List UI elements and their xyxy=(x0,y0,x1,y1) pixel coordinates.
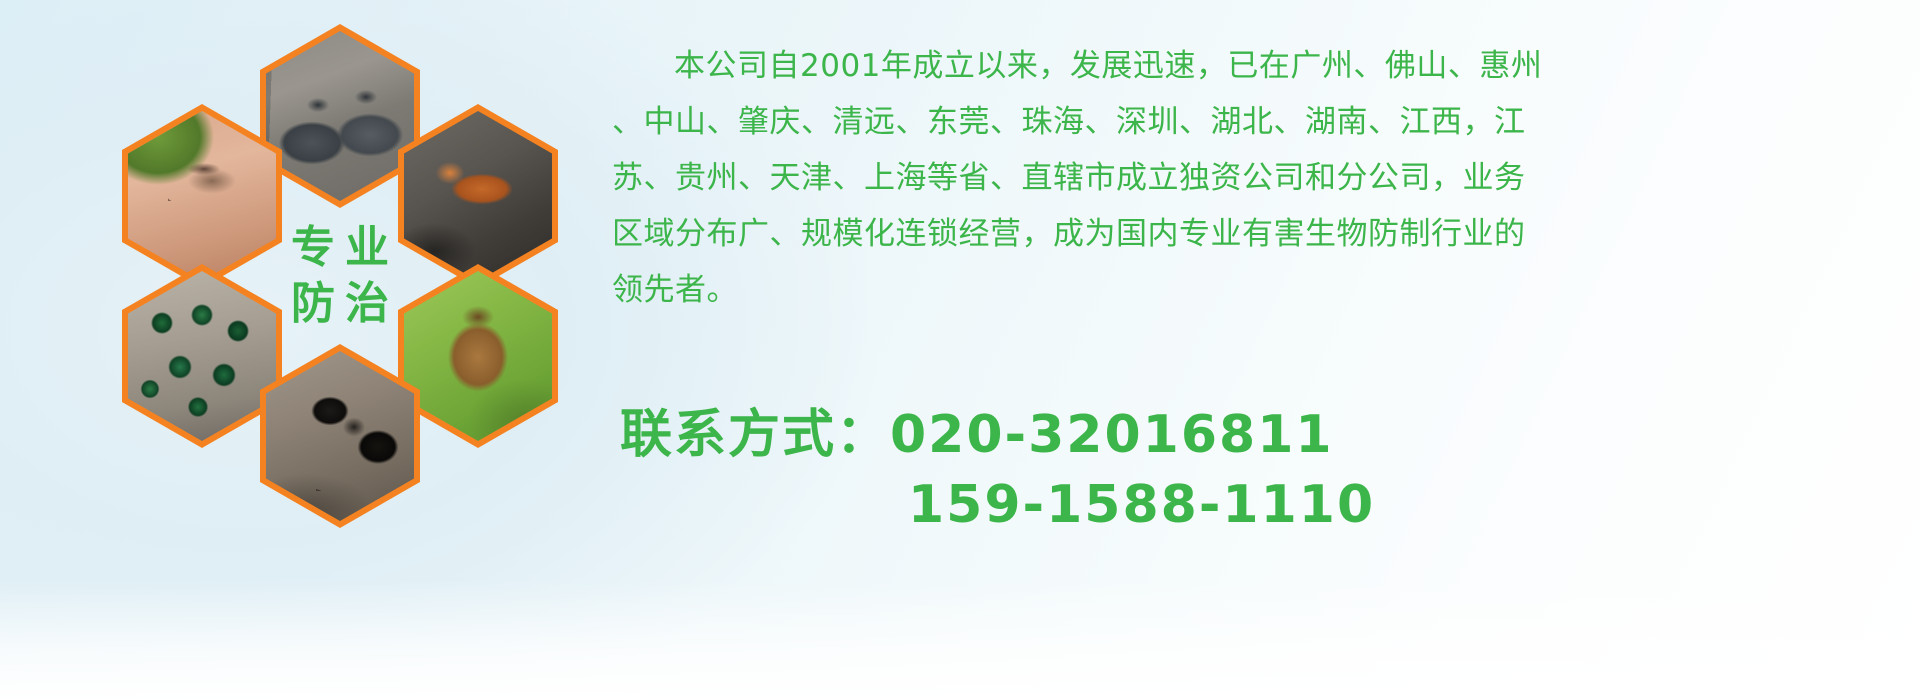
slogan-line-1: 专业 xyxy=(281,220,399,276)
slogan-line-2: 防治 xyxy=(281,276,399,332)
description-line-1: 本公司自2001年成立以来，发展迅速，已在广州、佛山、惠州 xyxy=(612,38,1912,94)
contact-secondary-phone[interactable]: 159-1588-1110 xyxy=(620,470,1920,540)
cockroach-image xyxy=(404,111,552,281)
description-line-4: 区域分布广、规模化连锁经营，成为国内专业有害生物防制行业的 xyxy=(612,206,1912,262)
hexagon-center-slogan: 专业 防治 xyxy=(260,184,420,368)
hexagon-photo-cluster: 专业 防治 xyxy=(90,8,590,568)
ant-image xyxy=(266,351,414,521)
contact-block: 联系方式：020-32016811 159-1588-1110 xyxy=(620,400,1920,540)
contact-primary-phone[interactable]: 联系方式：020-32016811 xyxy=(620,400,1920,470)
hexagon-mosquito-photo xyxy=(122,104,282,288)
slogan-text: 专业 防治 xyxy=(281,220,399,333)
description-line-3: 苏、贵州、天津、上海等省、直辖市成立独资公司和分公司，业务 xyxy=(612,150,1912,206)
hexagon-cockroach-photo xyxy=(398,104,558,288)
hexagon-ant-photo xyxy=(260,344,420,528)
description-line-2: 、中山、肇庆、清远、东莞、珠海、深圳、湖北、湖南、江西，江 xyxy=(612,94,1912,150)
company-description: 本公司自2001年成立以来，发展迅速，已在广州、佛山、惠州 、中山、肇庆、清远、… xyxy=(612,38,1912,318)
description-line-1-text: 本公司自2001年成立以来，发展迅速，已在广州、佛山、惠州 xyxy=(674,48,1542,84)
mosquito-image xyxy=(128,111,276,281)
rats-image xyxy=(266,31,414,201)
flies-image xyxy=(128,271,276,441)
promo-banner: 专业 防治 本公司自2001年成立以来，发展迅速，已在广州、佛山、惠州 、中山、… xyxy=(0,0,1920,700)
description-line-5: 领先者。 xyxy=(612,262,1912,318)
stink-bug-image xyxy=(404,271,552,441)
hexagon-rats-photo xyxy=(260,24,420,208)
hexagon-stinkbug-photo xyxy=(398,264,558,448)
hexagon-flies-photo xyxy=(122,264,282,448)
